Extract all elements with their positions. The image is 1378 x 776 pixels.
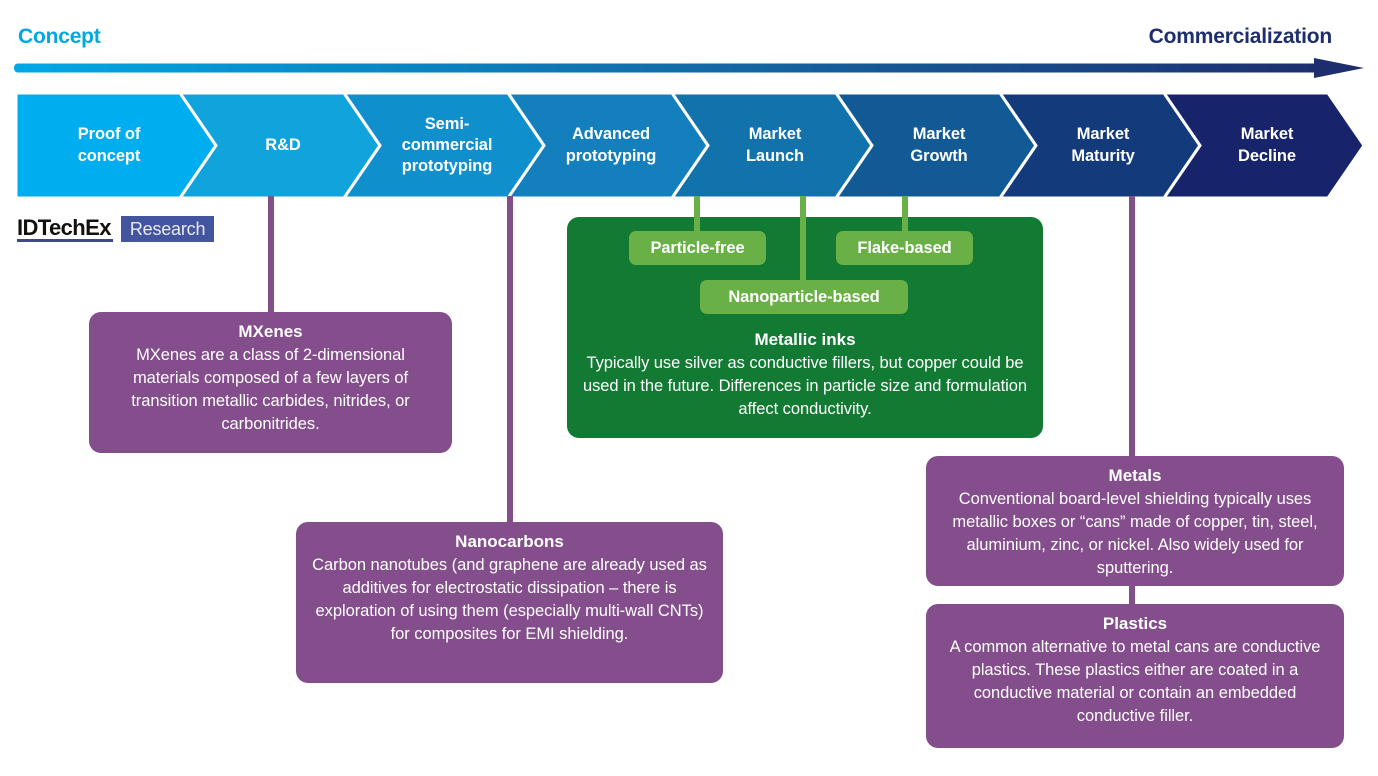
callout-title: MXenes	[102, 321, 439, 343]
callout-body: Carbon nanotubes (and graphene are alrea…	[309, 554, 710, 645]
pill-particle-free[interactable]: Particle-free	[629, 231, 766, 265]
callout-body: Conventional board-level shielding typic…	[939, 488, 1331, 579]
stage-label: Market Decline	[1234, 124, 1300, 166]
stage-label: Semi- commercial prototyping	[398, 114, 497, 177]
stage-chevron-8[interactable]: Market Decline	[1164, 93, 1364, 198]
callout-body: Typically use silver as conductive fille…	[580, 352, 1030, 420]
connector-stem-mxenes	[268, 196, 274, 314]
stage-label: Market Launch	[742, 124, 808, 166]
callout-body: MXenes are a class of 2-dimensional mate…	[102, 344, 439, 435]
callout-card-metals[interactable]: Metals Conventional board-level shieldin…	[926, 456, 1344, 586]
stage-label: R&D	[261, 135, 304, 156]
stage-band: Proof of conceptR&DSemi- commercial prot…	[16, 93, 1364, 198]
connector-stem-nanocarbons	[507, 196, 513, 524]
stage-label: Market Maturity	[1067, 124, 1138, 166]
logo-wordmark: IDTechEx	[17, 216, 113, 242]
callout-title: Metals	[939, 465, 1331, 487]
pill-flake-based[interactable]: Flake-based	[836, 231, 973, 265]
callout-body: A common alternative to metal cans are c…	[939, 636, 1331, 727]
connector-stem-particle-free	[694, 196, 700, 236]
callout-card-mxenes[interactable]: MXenes MXenes are a class of 2-dimension…	[89, 312, 452, 453]
pill-label: Nanoparticle-based	[728, 288, 879, 307]
connector-stem-metals	[1129, 196, 1135, 458]
callout-title: Nanocarbons	[309, 531, 710, 553]
right-arrow-icon	[14, 58, 1364, 78]
callout-card-nanocarbons[interactable]: Nanocarbons Carbon nanotubes (and graphe…	[296, 522, 723, 683]
stage-label: Proof of concept	[74, 124, 145, 166]
callout-title: Plastics	[939, 613, 1331, 635]
stage-label: Advanced prototyping	[562, 124, 661, 166]
callout-card-plastics[interactable]: Plastics A common alternative to metal c…	[926, 604, 1344, 748]
axis-end-label: Commercialization	[1149, 25, 1332, 49]
stage-label: Market Growth	[906, 124, 971, 166]
axis-start-label: Concept	[18, 25, 101, 49]
connector-stem-flake-based	[902, 196, 908, 236]
logo-research-tag: Research	[121, 216, 214, 242]
pill-label: Flake-based	[857, 239, 951, 258]
roadmap-diagram: Concept Commercialization Proof of conce…	[0, 0, 1378, 776]
idtechex-logo: IDTechEx Research	[17, 216, 214, 242]
connector-stem-nanoparticle-based	[800, 196, 806, 286]
pill-label: Particle-free	[650, 239, 744, 258]
callout-title: Metallic inks	[580, 329, 1030, 351]
